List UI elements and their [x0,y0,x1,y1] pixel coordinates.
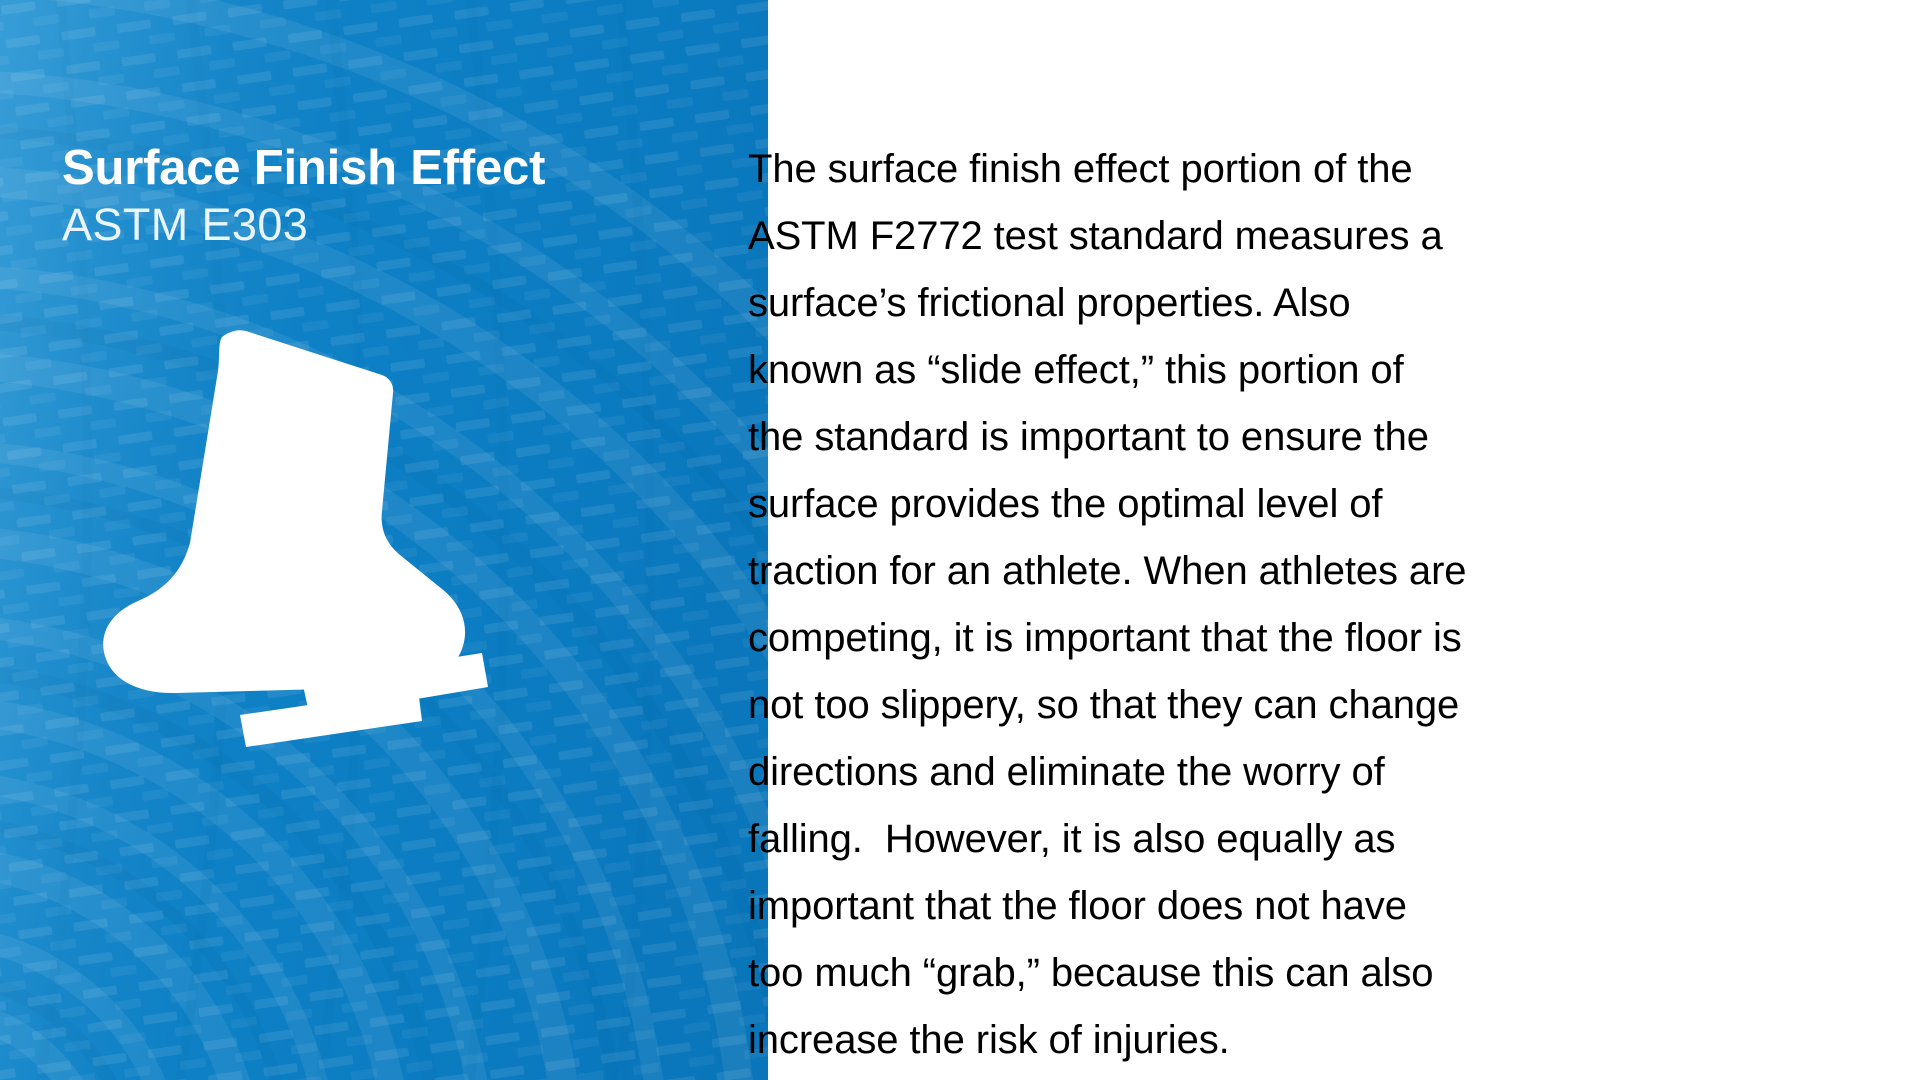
page-subtitle: ASTM E303 [62,201,722,250]
right-content-panel: The surface finish effect portion of the… [768,0,1920,1080]
foot-slide-icon [70,315,540,755]
body-paragraph: The surface finish effect portion of the… [748,136,1468,1074]
slide-root: Surface Finish Effect ASTM E303 The surf… [0,0,1920,1080]
title-block: Surface Finish Effect ASTM E303 [62,143,722,250]
page-title: Surface Finish Effect [62,143,722,195]
left-blue-panel: Surface Finish Effect ASTM E303 [0,0,768,1080]
